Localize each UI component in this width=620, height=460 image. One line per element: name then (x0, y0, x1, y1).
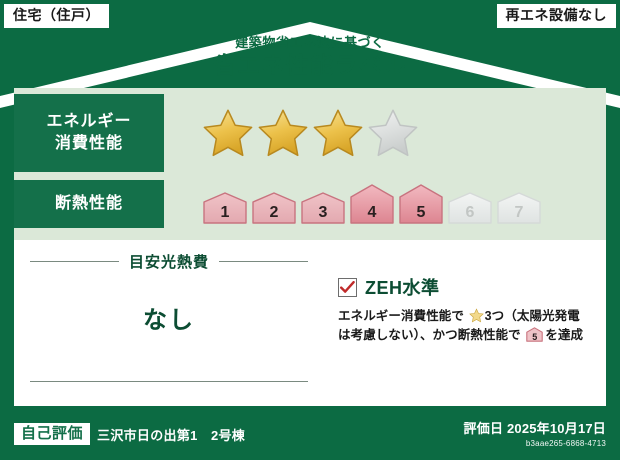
insulation-level-badge-number: 5 (526, 333, 543, 342)
building-name: 三沢市日の出第1 2号棟 (97, 425, 245, 444)
footer-right: 評価日 2025年10月17日 b3aae265-6868-4713 (464, 418, 606, 448)
house-icon (496, 191, 542, 225)
star-icon-filled (257, 107, 309, 159)
house-icon (447, 191, 493, 225)
energy-performance-value (164, 94, 606, 172)
check-icon (340, 281, 355, 294)
zeh-panel: ZEH水準 エネルギー消費性能で 3つ（太陽光発電 は考慮しない）、かつ断熱性能… (324, 240, 606, 406)
insulation-level-1: 1 (202, 191, 248, 225)
house-icon (202, 191, 248, 225)
lower-section: 目安光熱費 なし ZEH水準 エネルギー消費性能で (14, 240, 606, 406)
energy-performance-key: エネルギー 消費性能 (14, 94, 164, 172)
house-icon (251, 191, 297, 225)
evaluation-id: b3aae265-6868-4713 (464, 439, 606, 448)
insulation-level-badge-icon: 5 (526, 327, 543, 342)
star-icon-filled (312, 107, 364, 159)
energy-cost-bottom-rule (30, 381, 308, 382)
zeh-desc-star-count: 3つ（太陽光発電 (485, 309, 580, 323)
insulation-performance-value: 1234567 (164, 180, 606, 228)
insulation-level-4: 4 (349, 183, 395, 225)
energy-cost-value: なし (30, 300, 308, 335)
zeh-description: エネルギー消費性能で 3つ（太陽光発電 は考慮しない）、かつ断熱性能で 5 を達… (338, 307, 592, 346)
insulation-level-scale: 1234567 (202, 183, 542, 225)
insulation-level-5: 5 (398, 183, 444, 225)
insulation-level-7: 7 (496, 191, 542, 225)
star-icon-empty (367, 107, 419, 159)
insulation-level-6: 6 (447, 191, 493, 225)
house-icon (300, 191, 346, 225)
label-card: エネルギー 消費性能 断熱性能 1234567 目安光熱費 なし (14, 88, 606, 406)
star-icon-filled (202, 107, 254, 159)
zeh-checkbox (338, 278, 357, 297)
star-rating (202, 107, 419, 159)
house-icon (398, 183, 444, 225)
energy-cost-heading: 目安光熱費 (30, 252, 308, 270)
energy-performance-row: エネルギー 消費性能 (14, 94, 606, 172)
zeh-desc-part1: エネルギー消費性能で (338, 309, 464, 323)
energy-key-line2: 消費性能 (46, 133, 131, 155)
zeh-desc-part2: は考慮しない）、かつ断熱性能で (338, 328, 521, 342)
energy-key-line1: エネルギー (46, 111, 131, 133)
star-icon (469, 308, 484, 323)
zeh-desc-part3: を達成 (545, 328, 583, 342)
zeh-title: ZEH水準 (365, 274, 440, 300)
evaluation-date: 評価日 2025年10月17日 (464, 418, 606, 437)
footer-left: 自己評価 三沢市日の出第1 2号棟 (14, 423, 245, 445)
energy-performance-label: 住宅（住戸） 再エネ設備なし 建築物省エネ法に基づく 省エネ性能ラベル エネルギ… (0, 0, 620, 460)
energy-cost-panel: 目安光熱費 なし (14, 240, 324, 406)
evaluation-type-badge: 自己評価 (14, 423, 90, 445)
insulation-performance-key: 断熱性能 (14, 180, 164, 228)
building-type-tag: 住宅（住戸） (4, 4, 109, 28)
renewable-energy-tag: 再エネ設備なし (497, 4, 617, 28)
energy-cost-heading-text: 目安光熱費 (119, 251, 219, 272)
insulation-level-3: 3 (300, 191, 346, 225)
house-icon (349, 183, 395, 225)
zeh-heading: ZEH水準 (338, 274, 592, 300)
label-footer: 自己評価 三沢市日の出第1 2号棟 評価日 2025年10月17日 b3aae2… (0, 406, 620, 460)
insulation-level-2: 2 (251, 191, 297, 225)
insulation-performance-row: 断熱性能 1234567 (14, 180, 606, 228)
